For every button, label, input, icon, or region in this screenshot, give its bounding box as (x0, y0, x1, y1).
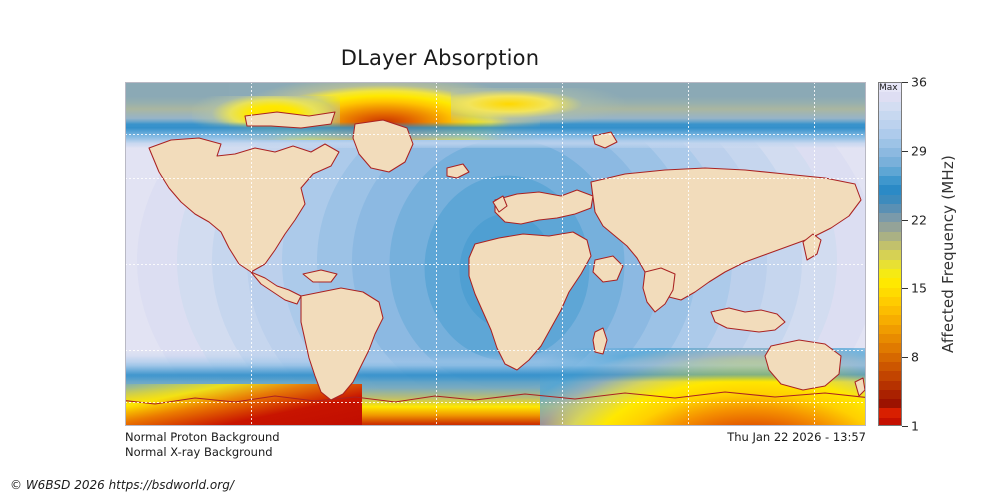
gridline-horizontal-4 (125, 350, 866, 351)
colorbar-segment (879, 102, 901, 111)
colorbar-segment (879, 185, 901, 194)
land-antarctica (125, 392, 866, 426)
colorbar-segment (879, 371, 901, 380)
colorbar-segment (879, 241, 901, 250)
land-india (643, 268, 675, 312)
colorbar-segment (879, 129, 901, 138)
land-europe (495, 190, 593, 224)
land-new-zealand (855, 378, 865, 396)
colorbar-segment (879, 232, 901, 241)
xray-background-note: Normal X-ray Background (125, 445, 273, 459)
colorbar-segment (879, 157, 901, 166)
colorbar-tick-label: 15 (911, 281, 927, 296)
colorbar-tick (902, 426, 908, 427)
colorbar-segment (879, 92, 901, 101)
colorbar-axis-label: Affected Frequency (MHz) (936, 82, 960, 426)
colorbar-segment (879, 381, 901, 390)
colorbar-tick (902, 151, 908, 152)
gridline-horizontal-5 (125, 402, 866, 403)
colorbar-tick-label: 36 (911, 75, 927, 90)
colorbar-segment (879, 195, 901, 204)
colorbar-tick (902, 82, 908, 83)
colorbar-tick-label: 29 (911, 143, 927, 158)
colorbar-segment (879, 399, 901, 408)
colorbar-segment (879, 297, 901, 306)
colorbar-segment (879, 325, 901, 334)
map-plot-area[interactable] (125, 82, 866, 426)
colorbar-tick (902, 288, 908, 289)
gridline-horizontal-2 (125, 178, 866, 179)
land-south-america (301, 288, 383, 400)
colorbar-segment (879, 213, 901, 222)
land-caribbean (303, 270, 337, 282)
colorbar-segment (879, 362, 901, 371)
land-iceland (447, 164, 469, 178)
colorbar-tick (902, 357, 908, 358)
colorbar-segment (879, 418, 901, 426)
colorbar-segment (879, 306, 901, 315)
colorbar-segment (879, 408, 901, 417)
colorbar-segment (879, 176, 901, 185)
colorbar-segment (879, 167, 901, 176)
land-north-america (149, 138, 339, 272)
colorbar-segment (879, 315, 901, 324)
colorbar-segment (879, 278, 901, 287)
gridline-horizontal-1 (125, 134, 866, 135)
colorbar-segment (879, 269, 901, 278)
land-eurasia (591, 168, 861, 300)
colorbar-segment (879, 222, 901, 231)
colorbar-tick-label: 22 (911, 212, 927, 227)
colorbar-segment (879, 148, 901, 157)
colorbar-tick (902, 220, 908, 221)
colorbar[interactable]: Max 1815222936 (878, 82, 902, 426)
land-greenland (353, 120, 413, 172)
colorbar-segment (879, 353, 901, 362)
colorbar-tick-label: 8 (911, 350, 919, 365)
colorbar-segment (879, 204, 901, 213)
colorbar-segment (879, 288, 901, 297)
page-title: DLayer Absorption (0, 46, 880, 70)
colorbar-segment (879, 139, 901, 148)
colorbar-segment (879, 343, 901, 352)
land-arctic-islands (245, 112, 335, 128)
land-australia (765, 340, 841, 390)
colorbar-segment (879, 250, 901, 259)
proton-background-note: Normal Proton Background (125, 430, 280, 444)
colorbar-gradient (878, 82, 902, 426)
colorbar-segment (879, 120, 901, 129)
copyright-label: © W6BSD 2026 https://bsdworld.org/ (10, 478, 234, 492)
colorbar-max-label: Max (879, 83, 898, 93)
colorbar-segment (879, 390, 901, 399)
colorbar-segment (879, 334, 901, 343)
colorbar-segment (879, 111, 901, 120)
gridline-horizontal-3 (125, 264, 866, 265)
land-indonesia (711, 308, 785, 332)
land-central-america (251, 272, 301, 304)
colorbar-segment (879, 260, 901, 269)
colorbar-tick-label: 1 (911, 419, 919, 434)
land-arabia (593, 256, 623, 282)
timestamp-label: Thu Jan 22 2026 - 13:57 (727, 430, 866, 444)
land-africa (469, 232, 591, 370)
